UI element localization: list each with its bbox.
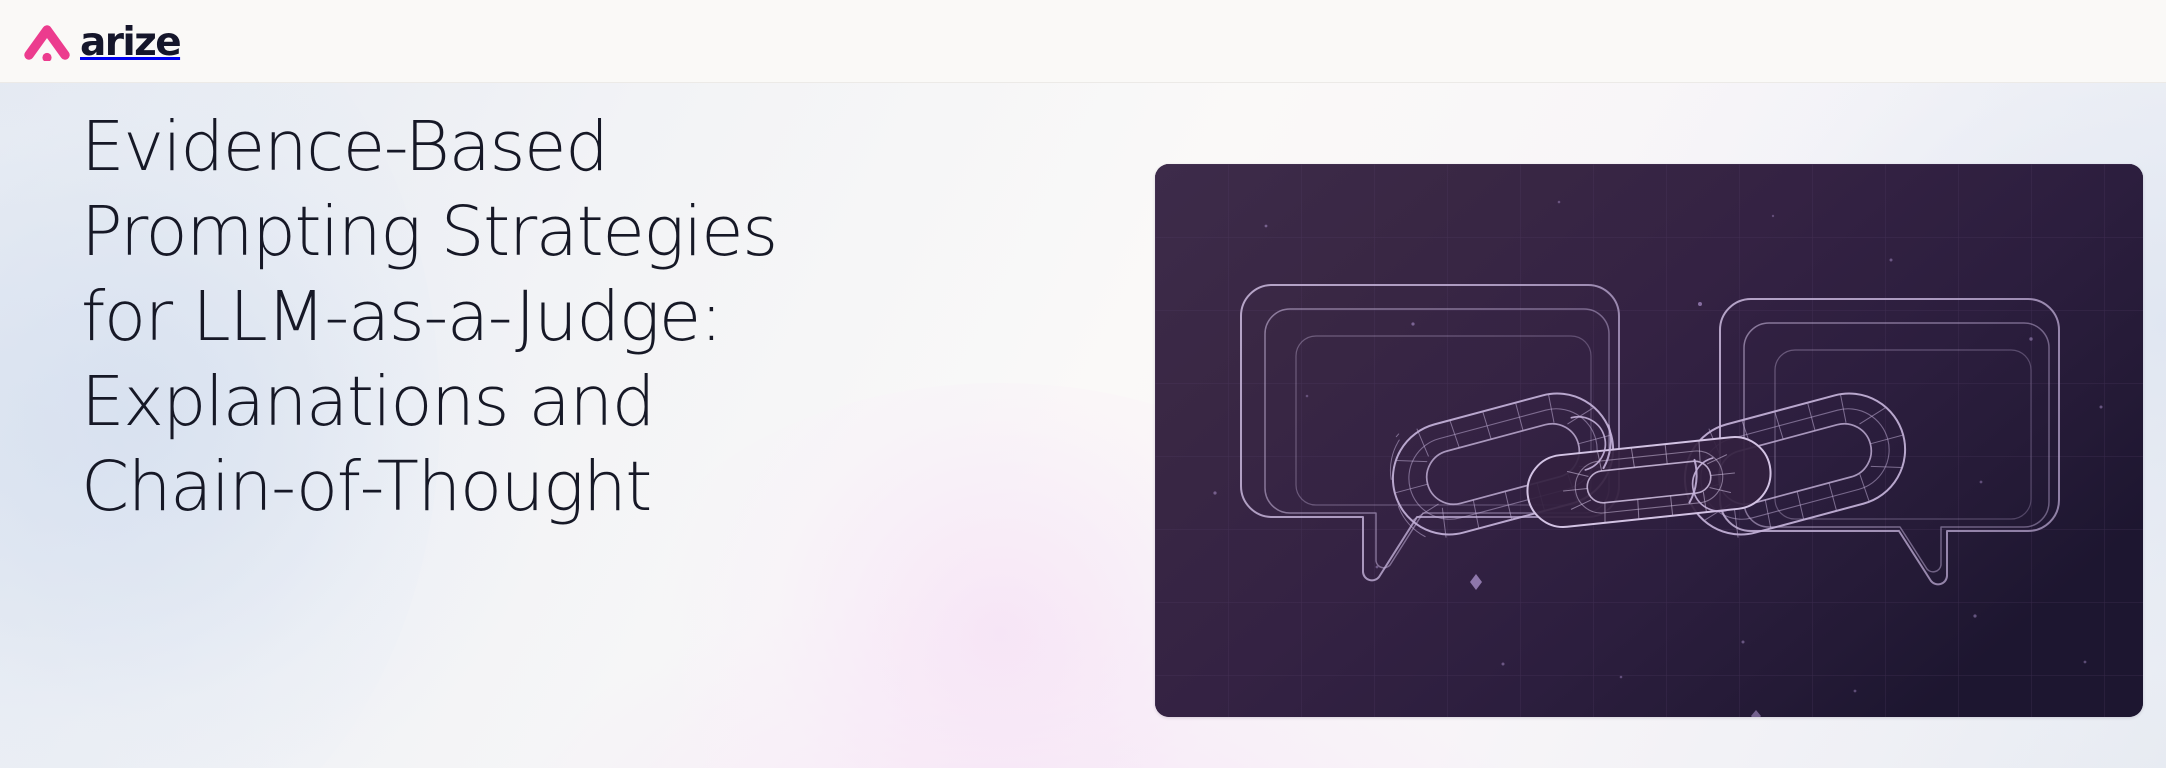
page-title: Evidence-Based Prompting Strategies for … xyxy=(81,105,1061,530)
arize-caret-icon xyxy=(24,17,70,66)
hero-section: Evidence-Based Prompting Strategies for … xyxy=(0,83,2166,768)
hero-page: arize Evidence-Based Prompting Strategie… xyxy=(0,0,2166,768)
site-header: arize xyxy=(0,0,2166,83)
arize-wordmark: arize xyxy=(80,23,180,62)
arize-logo[interactable]: arize xyxy=(24,18,180,64)
hero-illustration-panel xyxy=(1155,164,2143,717)
